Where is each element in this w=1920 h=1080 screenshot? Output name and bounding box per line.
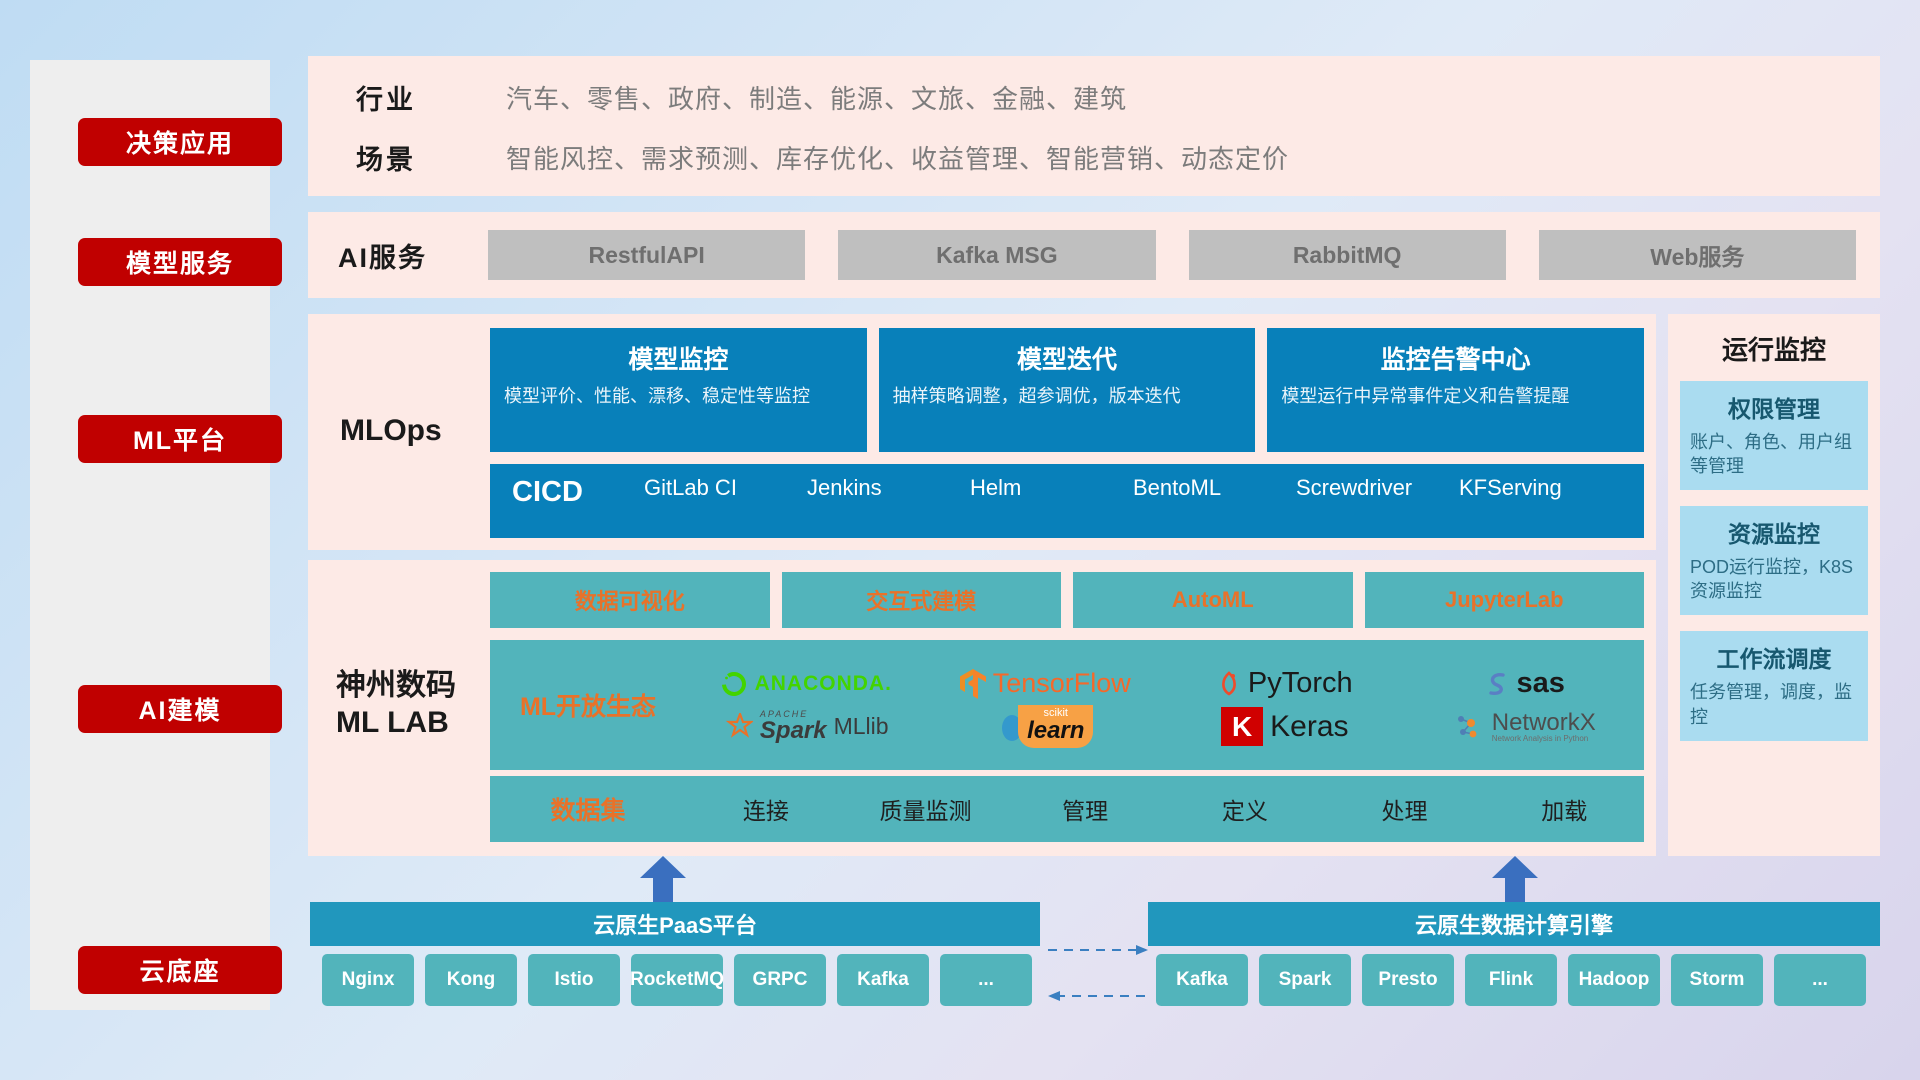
cicd-item-helm[interactable]: Helm (970, 476, 1133, 501)
engine-chip-storm[interactable]: Storm (1671, 954, 1763, 1006)
cicd-label: CICD (512, 476, 644, 509)
ai-service-band: AI服务 RestfulAPI Kafka MSG RabbitMQ Web服务 (308, 212, 1880, 298)
engine-chip-more[interactable]: ... (1774, 954, 1866, 1006)
sas-wordmark: sas (1517, 667, 1565, 700)
sas-mark (1484, 669, 1510, 699)
rail-tag-label: 云底座 (139, 952, 220, 988)
spark-star-mark (723, 713, 753, 741)
rail-tag-label: 模型服务 (126, 244, 234, 280)
tool-tab-automl[interactable]: AutoML (1073, 572, 1353, 628)
paas-chip-nginx[interactable]: Nginx (322, 954, 414, 1006)
rail-tag-cloud-base[interactable]: 云底座 (78, 946, 282, 994)
keras-mark: K (1221, 707, 1263, 746)
paas-chip-row: Nginx Kong Istio RocketMQ GRPC Kafka ... (322, 954, 1032, 1006)
rail-tag-label: 决策应用 (126, 124, 234, 160)
scenario-value: 智能风控、需求预测、库存优化、收益管理、智能营销、动态定价 (506, 139, 1289, 176)
mllib-wordmark: MLlib (834, 713, 889, 740)
ml-ecosystem-logo-grid: ANACONDA. TensorFlow PyTorch (686, 662, 1644, 748)
monitoring-card-workflow[interactable]: 工作流调度 任务管理，调度，监控 (1680, 631, 1868, 740)
ai-service-chip-list: RestfulAPI Kafka MSG RabbitMQ Web服务 (488, 230, 1880, 280)
keras-wordmark: Keras (1270, 710, 1348, 744)
left-layer-rail: 决策应用 模型服务 ML平台 AI建模 云底座 (30, 60, 270, 1010)
industry-label: 行业 (356, 78, 506, 117)
paas-chip-istio[interactable]: Istio (528, 954, 620, 1006)
card-desc: 任务管理，调度，监控 (1690, 680, 1858, 728)
rail-tag-ai-modeling[interactable]: AI建模 (78, 685, 282, 733)
card-title: 模型迭代 (893, 340, 1242, 376)
cicd-row: CICD GitLab CI Jenkins Helm BentoML Scre… (490, 464, 1644, 538)
tool-tab-data-visualization[interactable]: 数据可视化 (490, 572, 770, 628)
scikit-learn-logo: scikit learn (997, 705, 1093, 748)
industry-row: 行业 汽车、零售、政府、制造、能源、文旅、金融、建筑 (356, 78, 1127, 117)
tensorflow-wordmark: TensorFlow (993, 668, 1131, 699)
cicd-item-bentoml[interactable]: BentoML (1133, 476, 1296, 501)
paas-chip-grpc[interactable]: GRPC (734, 954, 826, 1006)
networkx-wordmark: NetworkX (1492, 710, 1596, 735)
cicd-item-jenkins[interactable]: Jenkins (807, 476, 970, 501)
ai-service-label: AI服务 (338, 236, 488, 275)
mlops-card-model-monitoring[interactable]: 模型监控 模型评价、性能、漂移、稳定性等监控 (490, 328, 867, 452)
ml-lab-label-line2: ML LAB (336, 705, 496, 742)
card-desc: 账户、角色、用户组等管理 (1690, 430, 1858, 478)
rail-tag-model-service[interactable]: 模型服务 (78, 238, 282, 286)
rail-tag-ml-platform[interactable]: ML平台 (78, 415, 282, 463)
runtime-monitoring-panel: 运行监控 权限管理 账户、角色、用户组等管理 资源监控 POD运行监控，K8S资… (1668, 314, 1880, 856)
ai-service-chip[interactable]: Kafka MSG (838, 230, 1155, 280)
decision-applications-band: 行业 汽车、零售、政府、制造、能源、文旅、金融、建筑 场景 智能风控、需求预测、… (308, 56, 1880, 196)
card-desc: 模型评价、性能、漂移、稳定性等监控 (504, 384, 853, 408)
arrow-up-paas (640, 856, 686, 904)
engine-chip-kafka[interactable]: Kafka (1156, 954, 1248, 1006)
spark-wordmark: Spark (760, 719, 827, 743)
industry-value: 汽车、零售、政府、制造、能源、文旅、金融、建筑 (506, 79, 1127, 116)
cicd-item-gitlab-ci[interactable]: GitLab CI (644, 476, 807, 501)
card-title: 工作流调度 (1690, 640, 1858, 674)
mlops-band: MLOps 模型监控 模型评价、性能、漂移、稳定性等监控 模型迭代 抽样策略调整… (308, 314, 1656, 550)
anaconda-wordmark: ANACONDA. (755, 672, 892, 696)
paas-chip-kong[interactable]: Kong (425, 954, 517, 1006)
mlops-card-list: 模型监控 模型评价、性能、漂移、稳定性等监控 模型迭代 抽样策略调整，超参调优，… (490, 328, 1644, 452)
engine-chip-spark[interactable]: Spark (1259, 954, 1351, 1006)
tensorflow-logo: TensorFlow (960, 668, 1131, 699)
mlops-card-alert-center[interactable]: 监控告警中心 模型运行中异常事件定义和告警提醒 (1267, 328, 1644, 452)
tensorflow-mark (960, 669, 986, 699)
networkx-subtitle: Network Analysis in Python (1492, 735, 1596, 743)
card-desc: 模型运行中异常事件定义和告警提醒 (1281, 384, 1630, 408)
ml-ecosystem-label: ML开放生态 (490, 687, 686, 723)
cicd-item-list: GitLab CI Jenkins Helm BentoML Screwdriv… (644, 476, 1622, 501)
card-title: 权限管理 (1690, 390, 1858, 424)
cicd-item-screwdriver[interactable]: Screwdriver (1296, 476, 1459, 501)
paas-chip-rocketmq[interactable]: RocketMQ (631, 954, 723, 1006)
arrow-up-engine (1492, 856, 1538, 904)
pytorch-logo: PyTorch (1217, 667, 1353, 700)
dataset-item-quality-monitor[interactable]: 质量监测 (846, 792, 1006, 826)
card-title: 模型监控 (504, 340, 853, 376)
modeling-tool-tabs: 数据可视化 交互式建模 AutoML JupyterLab (490, 572, 1644, 628)
engine-chip-flink[interactable]: Flink (1465, 954, 1557, 1006)
bidirectional-dashed-connector (1040, 938, 1156, 1008)
card-desc: POD运行监控，K8S资源监控 (1690, 555, 1858, 603)
networkx-wordmark-wrap: NetworkX Network Analysis in Python (1492, 710, 1596, 744)
dataset-item-process[interactable]: 处理 (1325, 792, 1485, 826)
dataset-item-define[interactable]: 定义 (1165, 792, 1325, 826)
engine-chip-row: Kafka Spark Presto Flink Hadoop Storm ..… (1156, 954, 1866, 1006)
scenario-row: 场景 智能风控、需求预测、库存优化、收益管理、智能营销、动态定价 (356, 138, 1289, 177)
dataset-label: 数据集 (490, 791, 686, 827)
monitoring-card-permissions[interactable]: 权限管理 账户、角色、用户组等管理 (1680, 381, 1868, 490)
tool-tab-interactive-modeling[interactable]: 交互式建模 (782, 572, 1062, 628)
monitoring-card-resources[interactable]: 资源监控 POD运行监控，K8S资源监控 (1680, 506, 1868, 615)
cloud-engine-title: 云原生数据计算引擎 (1415, 908, 1613, 940)
dataset-row: 数据集 连接 质量监测 管理 定义 处理 加载 (490, 776, 1644, 842)
dataset-item-list: 连接 质量监测 管理 定义 处理 加载 (686, 792, 1644, 826)
card-title: 资源监控 (1690, 515, 1858, 549)
learn-wordmark: learn (1027, 719, 1084, 743)
ai-service-chip[interactable]: RestfulAPI (488, 230, 805, 280)
networkx-logo: NetworkX Network Analysis in Python (1453, 710, 1596, 744)
anaconda-mark (720, 670, 748, 698)
keras-logo: K Keras (1221, 707, 1349, 746)
card-title: 监控告警中心 (1281, 340, 1630, 376)
ai-service-chip[interactable]: Web服务 (1539, 230, 1856, 280)
rail-tag-label: AI建模 (138, 691, 221, 727)
cloud-engine-bar[interactable]: 云原生数据计算引擎 (1148, 902, 1880, 946)
scenario-label: 场景 (356, 138, 506, 177)
scikit-orange-blob: scikit learn (1018, 705, 1093, 748)
ml-lab-label-line1: 神州数码 (336, 668, 496, 705)
spark-wordmark-wrap: APACHE Spark (760, 710, 827, 743)
pytorch-wordmark: PyTorch (1248, 667, 1353, 700)
ml-ecosystem-row: ML开放生态 ANACONDA. TensorFlow (490, 640, 1644, 770)
networkx-mark (1453, 710, 1485, 742)
ai-service-chip[interactable]: RabbitMQ (1189, 230, 1506, 280)
mlops-label: MLOps (340, 414, 490, 448)
spark-mllib-logo: APACHE Spark MLlib (723, 710, 889, 743)
engine-chip-presto[interactable]: Presto (1362, 954, 1454, 1006)
ai-modeling-band: 神州数码 ML LAB 数据可视化 交互式建模 AutoML JupyterLa… (308, 560, 1656, 856)
cloud-paas-title: 云原生PaaS平台 (593, 908, 757, 940)
tool-tab-jupyterlab[interactable]: JupyterLab (1365, 572, 1645, 628)
dataset-item-load[interactable]: 加载 (1484, 792, 1644, 826)
paas-chip-kafka[interactable]: Kafka (837, 954, 929, 1006)
rail-tag-decision-apps[interactable]: 决策应用 (78, 118, 282, 166)
anaconda-logo: ANACONDA. (720, 670, 892, 698)
cloud-paas-bar[interactable]: 云原生PaaS平台 (310, 902, 1040, 946)
rail-tag-label: ML平台 (133, 421, 227, 457)
sas-logo: sas (1484, 667, 1565, 700)
monitoring-title: 运行监控 (1668, 314, 1880, 381)
dataset-item-connect[interactable]: 连接 (686, 792, 846, 826)
cicd-item-kfserving[interactable]: KFServing (1459, 476, 1622, 501)
architecture-diagram: 决策应用 模型服务 ML平台 AI建模 云底座 行业 汽车、零售、政府、制造、能… (0, 0, 1920, 1080)
dataset-item-manage[interactable]: 管理 (1005, 792, 1165, 826)
card-desc: 抽样策略调整，超参调优，版本迭代 (893, 384, 1242, 408)
ml-lab-label: 神州数码 ML LAB (336, 668, 496, 741)
pytorch-mark (1217, 669, 1241, 699)
engine-chip-hadoop[interactable]: Hadoop (1568, 954, 1660, 1006)
mlops-card-model-iteration[interactable]: 模型迭代 抽样策略调整，超参调优，版本迭代 (879, 328, 1256, 452)
paas-chip-more[interactable]: ... (940, 954, 1032, 1006)
